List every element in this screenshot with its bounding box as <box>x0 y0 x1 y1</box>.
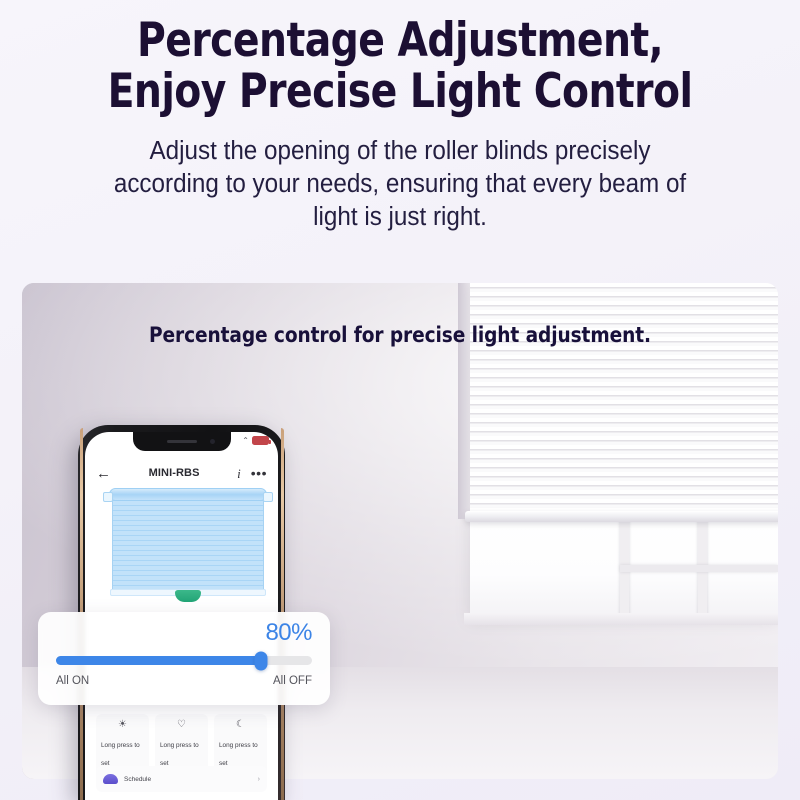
scene-card-label: Long press to set <box>160 742 199 767</box>
promo-page: Percentage Adjustment, Enjoy Precise Lig… <box>0 0 800 800</box>
moon-icon: ☾ <box>219 720 262 730</box>
scene-card-label: Long press to set <box>101 742 140 767</box>
page-title: Percentage Adjustment, Enjoy Precise Lig… <box>52 16 748 118</box>
page-subtitle: Adjust the opening of the roller blinds … <box>45 135 756 234</box>
wifi-icon: ⌃ <box>242 437 249 445</box>
earpiece-speaker <box>167 440 197 443</box>
all-off-label[interactable]: All OFF <box>273 675 312 687</box>
schedule-row[interactable]: Schedule › <box>96 766 267 792</box>
photo-banner-caption: Percentage control for precise light adj… <box>37 323 763 348</box>
title-line-1: Percentage Adjustment, <box>52 16 748 67</box>
roller-blind <box>470 283 778 515</box>
sun-icon: ☀ <box>101 720 144 730</box>
slider-fill <box>56 656 261 665</box>
schedule-icon <box>103 774 118 784</box>
percentage-control-card: 80% All ON All OFF <box>38 612 330 705</box>
blind-pull-handle[interactable] <box>175 590 201 602</box>
app-header: ← MINI-RBS i ••• <box>85 458 278 488</box>
blind-slats <box>112 500 264 590</box>
schedule-label: Schedule <box>124 776 252 783</box>
status-bar: ⌃ <box>242 436 269 445</box>
chevron-right-icon: › <box>258 776 260 783</box>
more-menu-icon[interactable]: ••• <box>251 466 267 480</box>
front-camera <box>210 439 215 444</box>
slider-knob[interactable] <box>254 651 267 670</box>
slider-end-labels: All ON All OFF <box>56 675 312 687</box>
app-title: MINI-RBS <box>111 467 237 479</box>
percentage-value: 80% <box>56 621 312 645</box>
subtitle-line-3: light is just right. <box>45 201 756 234</box>
heart-icon: ♡ <box>160 720 203 730</box>
scene-card-label: Long press to set <box>219 742 258 767</box>
window-sill <box>464 613 778 625</box>
roller-blind-illustration <box>104 488 272 606</box>
back-icon[interactable]: ← <box>96 466 111 481</box>
blind-top-roll <box>109 488 267 501</box>
info-icon[interactable]: i <box>237 467 241 480</box>
blind-bottom-rail <box>465 511 778 522</box>
window-mullion-vertical-2 <box>698 511 707 617</box>
phone-notch <box>133 432 231 451</box>
battery-icon <box>252 436 269 445</box>
hero-text-block: Percentage Adjustment, Enjoy Precise Lig… <box>0 0 800 234</box>
percentage-slider[interactable] <box>56 656 312 665</box>
subtitle-line-1: Adjust the opening of the roller blinds … <box>45 135 756 168</box>
all-on-label[interactable]: All ON <box>56 675 89 687</box>
window-glass <box>470 511 778 617</box>
window-mullion-horizontal <box>620 565 778 572</box>
title-line-2: Enjoy Precise Light Control <box>52 67 748 118</box>
window-mullion-vertical <box>620 511 629 617</box>
subtitle-line-2: according to your needs, ensuring that e… <box>45 168 756 201</box>
